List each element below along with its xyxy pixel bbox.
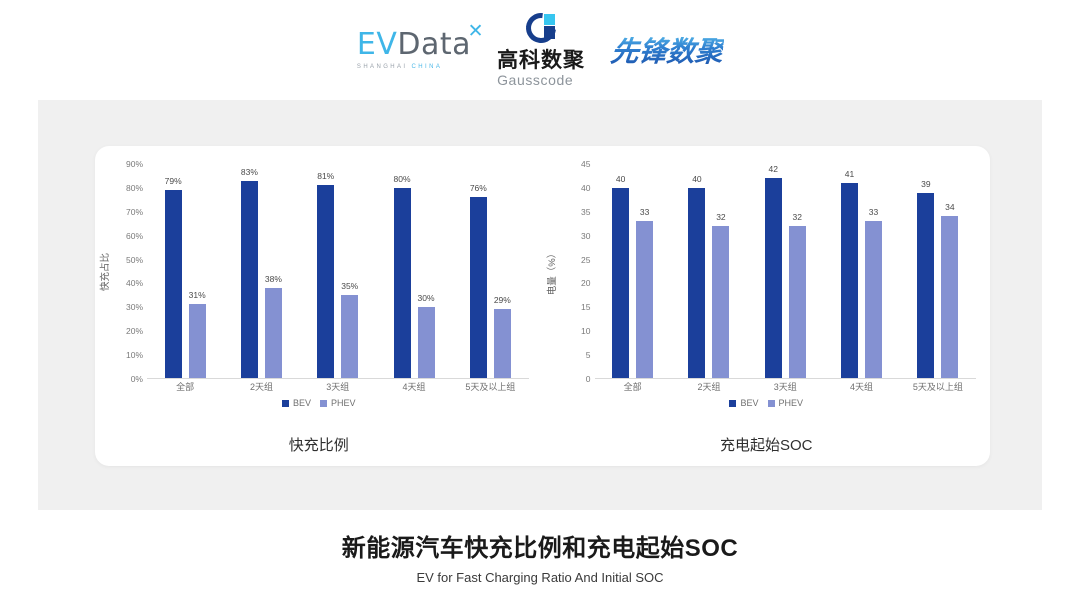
chart-fast-charging-ratio: 快充占比 0%10%20%30%40%50%60%70%80%90% 79%31…	[95, 146, 543, 466]
chart1-y-tick: 45	[581, 159, 590, 169]
chart1-plot-area: 40334032423241333934	[595, 164, 977, 379]
chart1-y-tick: 5	[586, 350, 591, 360]
chart1-bar-phev[interactable]: 33	[636, 221, 653, 378]
chart0-bar-value-label: 29%	[494, 295, 511, 305]
footer: 新能源汽车快充比例和充电起始SOC EV for Fast Charging R…	[0, 528, 1080, 585]
chart1-bar-value-label: 42	[769, 164, 778, 174]
content-panel: 快充占比 0%10%20%30%40%50%60%70%80%90% 79%31…	[38, 100, 1042, 510]
chart1-bar-value-label: 39	[921, 179, 930, 189]
chart1-y-tick: 25	[581, 255, 590, 265]
chart0-bar-bev[interactable]: 79%	[165, 190, 182, 378]
xianfeng-logo: 先锋数聚	[611, 30, 723, 70]
chart1-y-tick: 15	[581, 302, 590, 312]
chart0-bar-bev[interactable]: 81%	[317, 185, 334, 378]
chart0-bar-phev[interactable]: 30%	[418, 307, 435, 378]
chart1-bar-bev[interactable]: 40	[612, 188, 629, 378]
gausscode-mark-icon	[526, 13, 556, 43]
chart0-bar-group: 76%29%	[452, 164, 528, 378]
chart0-y-tick: 20%	[126, 326, 143, 336]
chart1-bar-group: 4033	[595, 164, 671, 378]
chart0-bar-phev[interactable]: 31%	[189, 304, 206, 378]
chart1-bar-phev[interactable]: 34	[941, 216, 958, 378]
chart1-legend-label-bev: BEV	[740, 398, 758, 408]
chart1-bar-group: 4133	[823, 164, 899, 378]
chart0-bar-group: 81%35%	[300, 164, 376, 378]
gausscode-logo: 高科数聚 Gausscode	[497, 13, 585, 87]
logo-bar: EVData ✕ SHANGHAI CHINA 高科数聚 Gausscode 先…	[0, 22, 1080, 78]
chart1-bar-group: 4232	[747, 164, 823, 378]
evdata-logo: EVData ✕ SHANGHAI CHINA	[357, 30, 471, 70]
chart0-bar-bev[interactable]: 83%	[241, 181, 258, 378]
chart-initial-soc: 电量（%） 051015202530354045 403340324232413…	[543, 146, 991, 466]
chart0-x-tick: 3天组	[300, 380, 376, 393]
chart0-bar-phev[interactable]: 35%	[341, 295, 358, 378]
evdata-tagline-shanghai: SHANGHAI	[357, 64, 408, 70]
chart0-y-tick: 10%	[126, 350, 143, 360]
chart0-bar-group: 79%31%	[147, 164, 223, 378]
chart1-x-tick: 全部	[595, 380, 671, 393]
chart0-x-tick: 5天及以上组	[452, 380, 528, 393]
chart1-y-tick: 30	[581, 231, 590, 241]
chart0-y-tick: 70%	[126, 207, 143, 217]
xianfeng-wordmark: 先锋数聚	[609, 30, 725, 70]
chart1-bar-phev[interactable]: 32	[712, 226, 729, 378]
chart1-y-ticks: 051015202530354045	[561, 164, 595, 379]
chart0-y-axis-label: 快充占比	[95, 164, 113, 379]
chart1-legend-item-phev: PHEV	[768, 398, 804, 408]
chart1-bar-phev[interactable]: 33	[865, 221, 882, 378]
chart0-x-tick: 全部	[147, 380, 223, 393]
chart0-y-tick: 90%	[126, 159, 143, 169]
chart0-caption: 快充比例	[95, 434, 543, 455]
chart0-legend-label-bev: BEV	[293, 398, 311, 408]
chart0-bar-value-label: 35%	[341, 281, 358, 291]
page-title: 新能源汽车快充比例和充电起始SOC	[0, 528, 1080, 563]
gausscode-chinese-name: 高科数聚	[497, 50, 585, 71]
chart0-legend-item-phev: PHEV	[320, 398, 356, 408]
chart1-x-tick: 2天组	[671, 380, 747, 393]
chart1-y-tick: 35	[581, 207, 590, 217]
chart1-bar-value-label: 41	[845, 169, 854, 179]
chart0-bar-phev[interactable]: 29%	[494, 309, 511, 378]
chart1-y-tick: 0	[586, 374, 591, 384]
chart0-y-tick: 30%	[126, 302, 143, 312]
evdata-letter-v: V	[376, 27, 397, 62]
slide-page: EVData ✕ SHANGHAI CHINA 高科数聚 Gausscode 先…	[0, 0, 1080, 608]
chart1-bar-bev[interactable]: 40	[688, 188, 705, 378]
chart1-x-tick: 4天组	[823, 380, 899, 393]
chart0-bar-phev[interactable]: 38%	[265, 288, 282, 378]
chart1-bar-bev[interactable]: 39	[917, 193, 934, 378]
charts-card: 快充占比 0%10%20%30%40%50%60%70%80%90% 79%31…	[95, 146, 990, 466]
chart1-bar-bev[interactable]: 41	[841, 183, 858, 378]
evdata-x-icon: ✕	[468, 22, 484, 41]
chart1-y-tick: 20	[581, 278, 590, 288]
chart0-x-tick: 4天组	[376, 380, 452, 393]
chart0-x-ticks: 全部2天组3天组4天组5天及以上组	[147, 380, 529, 393]
chart1-y-axis-label: 电量（%）	[543, 164, 561, 379]
chart1-bar-value-label: 40	[616, 174, 625, 184]
evdata-wordmark: EVData ✕	[357, 30, 471, 60]
chart0-y-tick: 0%	[131, 374, 143, 384]
chart0-bar-value-label: 80%	[394, 174, 411, 184]
chart0-bar-group: 83%38%	[223, 164, 299, 378]
chart1-bar-value-label: 34	[945, 202, 954, 212]
charts-container: 快充占比 0%10%20%30%40%50%60%70%80%90% 79%31…	[95, 146, 990, 466]
chart1-bar-phev[interactable]: 32	[789, 226, 806, 378]
evdata-tagline: SHANGHAI CHINA	[357, 64, 471, 70]
chart0-x-tick: 2天组	[223, 380, 299, 393]
chart0-plot-area: 79%31%83%38%81%35%80%30%76%29%	[147, 164, 529, 379]
chart1-legend: BEV PHEV	[543, 398, 991, 408]
chart0-y-tick: 50%	[126, 255, 143, 265]
chart1-bar-group: 4032	[671, 164, 747, 378]
chart1-bar-value-label: 33	[869, 207, 878, 217]
chart0-bar-value-label: 76%	[470, 183, 487, 193]
chart1-bar-bev[interactable]: 42	[765, 178, 782, 378]
chart0-legend-label-phev: PHEV	[331, 398, 356, 408]
chart1-caption: 充电起始SOC	[543, 434, 991, 455]
chart1-y-tick: 10	[581, 326, 590, 336]
chart0-bar-value-label: 83%	[241, 167, 258, 177]
chart1-x-ticks: 全部2天组3天组4天组5天及以上组	[595, 380, 977, 393]
legend-swatch-phev-icon	[768, 400, 775, 407]
chart1-legend-label-phev: PHEV	[779, 398, 804, 408]
chart1-bar-value-label: 32	[793, 212, 802, 222]
evdata-letter-e: E	[357, 27, 376, 62]
chart1-x-tick: 3天组	[747, 380, 823, 393]
chart1-y-tick: 40	[581, 183, 590, 193]
chart1-x-tick: 5天及以上组	[900, 380, 976, 393]
chart1-bar-value-label: 40	[692, 174, 701, 184]
evdata-tagline-china: CHINA	[412, 64, 443, 70]
chart0-bar-group: 80%30%	[376, 164, 452, 378]
chart0-bar-value-label: 79%	[165, 176, 182, 186]
legend-swatch-bev-icon	[729, 400, 736, 407]
chart0-bar-value-label: 31%	[189, 290, 206, 300]
chart1-bar-value-label: 33	[640, 207, 649, 217]
chart0-bar-value-label: 38%	[265, 274, 282, 284]
legend-swatch-phev-icon	[320, 400, 327, 407]
chart0-bar-bev[interactable]: 76%	[470, 197, 487, 378]
evdata-word-data: Data	[397, 27, 471, 62]
chart1-legend-item-bev: BEV	[729, 398, 758, 408]
chart0-bar-bev[interactable]: 80%	[394, 188, 411, 378]
chart0-legend-item-bev: BEV	[282, 398, 311, 408]
chart0-y-tick: 60%	[126, 231, 143, 241]
chart0-y-tick: 40%	[126, 278, 143, 288]
chart0-y-ticks: 0%10%20%30%40%50%60%70%80%90%	[113, 164, 147, 379]
chart1-bar-value-label: 32	[716, 212, 725, 222]
chart0-legend: BEV PHEV	[95, 398, 543, 408]
page-subtitle: EV for Fast Charging Ratio And Initial S…	[0, 570, 1080, 585]
gausscode-english-name: Gausscode	[497, 73, 585, 87]
chart0-y-tick: 80%	[126, 183, 143, 193]
legend-swatch-bev-icon	[282, 400, 289, 407]
chart0-bar-value-label: 81%	[317, 171, 334, 181]
chart0-bar-value-label: 30%	[418, 293, 435, 303]
chart1-bar-group: 3934	[900, 164, 976, 378]
